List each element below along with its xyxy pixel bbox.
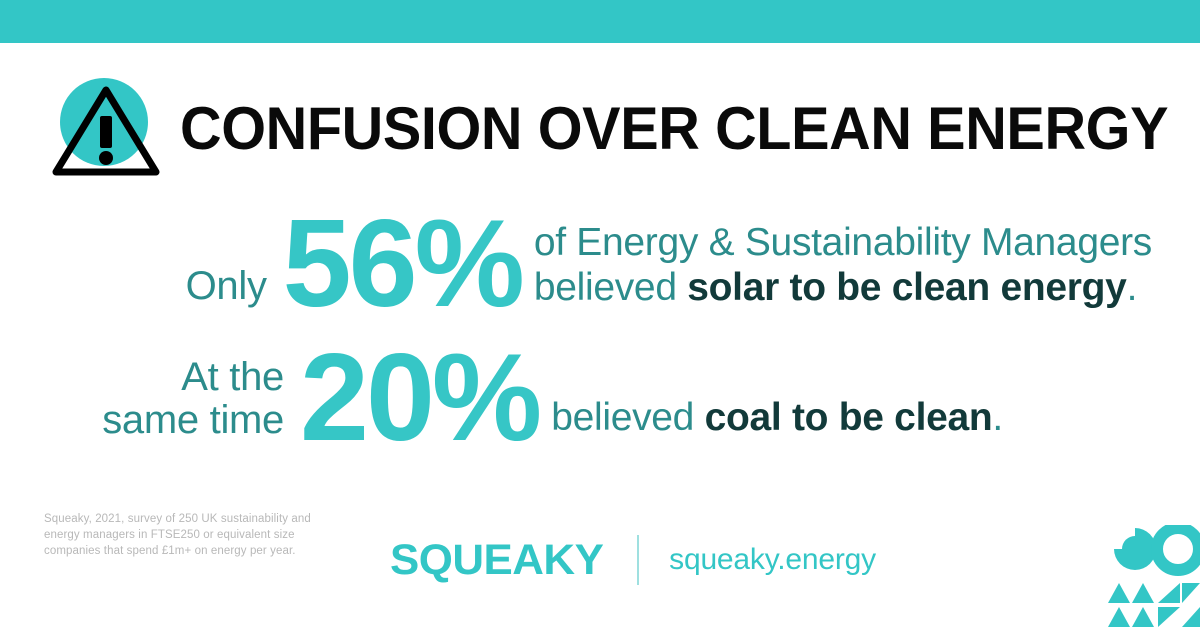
- statistic-line-2-suffix: .: [992, 396, 1003, 439]
- warning-triangle-icon: [52, 72, 168, 184]
- statistic-block-coal: At the same time 20% believed coal to be…: [52, 348, 1152, 448]
- squeaky-geometric-mark: [1096, 525, 1200, 627]
- squeaky-wordmark: SQUEAKY: [390, 536, 603, 584]
- statistic-line-2: believed coal to be clean.: [551, 395, 1152, 440]
- footer-brand: SQUEAKY squeaky.energy: [390, 536, 876, 584]
- statistic-value-20: 20%: [284, 348, 551, 448]
- statistic-text: believed coal to be clean.: [551, 395, 1152, 448]
- statistic-line-2-emphasis: solar to be clean energy: [687, 266, 1126, 309]
- statistic-line-2-suffix: .: [1127, 266, 1138, 309]
- brand-divider: [637, 535, 639, 585]
- statistic-line-2: believed solar to be clean energy.: [534, 265, 1152, 310]
- statistic-text: of Energy & Sustainability Managers beli…: [534, 220, 1152, 314]
- infographic-canvas: CONFUSION OVER CLEAN ENERGY Only 56% of …: [0, 0, 1200, 627]
- statistic-lead-label: At the same time: [52, 356, 284, 448]
- top-accent-bar: [0, 0, 1200, 43]
- statistic-line-2-prefix: believed: [534, 266, 687, 309]
- statistic-line-1: of Energy & Sustainability Managers: [534, 220, 1152, 265]
- statistic-lead-label: Only: [52, 265, 267, 314]
- page-title: CONFUSION OVER CLEAN ENERGY: [180, 78, 1168, 180]
- header: CONFUSION OVER CLEAN ENERGY: [52, 72, 1152, 184]
- statistic-value-56: 56%: [267, 214, 534, 314]
- statistic-block-solar: Only 56% of Energy & Sustainability Mana…: [52, 214, 1152, 314]
- statistic-line-2-emphasis: coal to be clean: [705, 396, 993, 439]
- squeaky-website-url[interactable]: squeaky.energy: [669, 536, 876, 584]
- source-footnote: Squeaky, 2021, survey of 250 UK sustaina…: [44, 511, 314, 559]
- statistic-line-2-prefix: believed: [551, 396, 704, 439]
